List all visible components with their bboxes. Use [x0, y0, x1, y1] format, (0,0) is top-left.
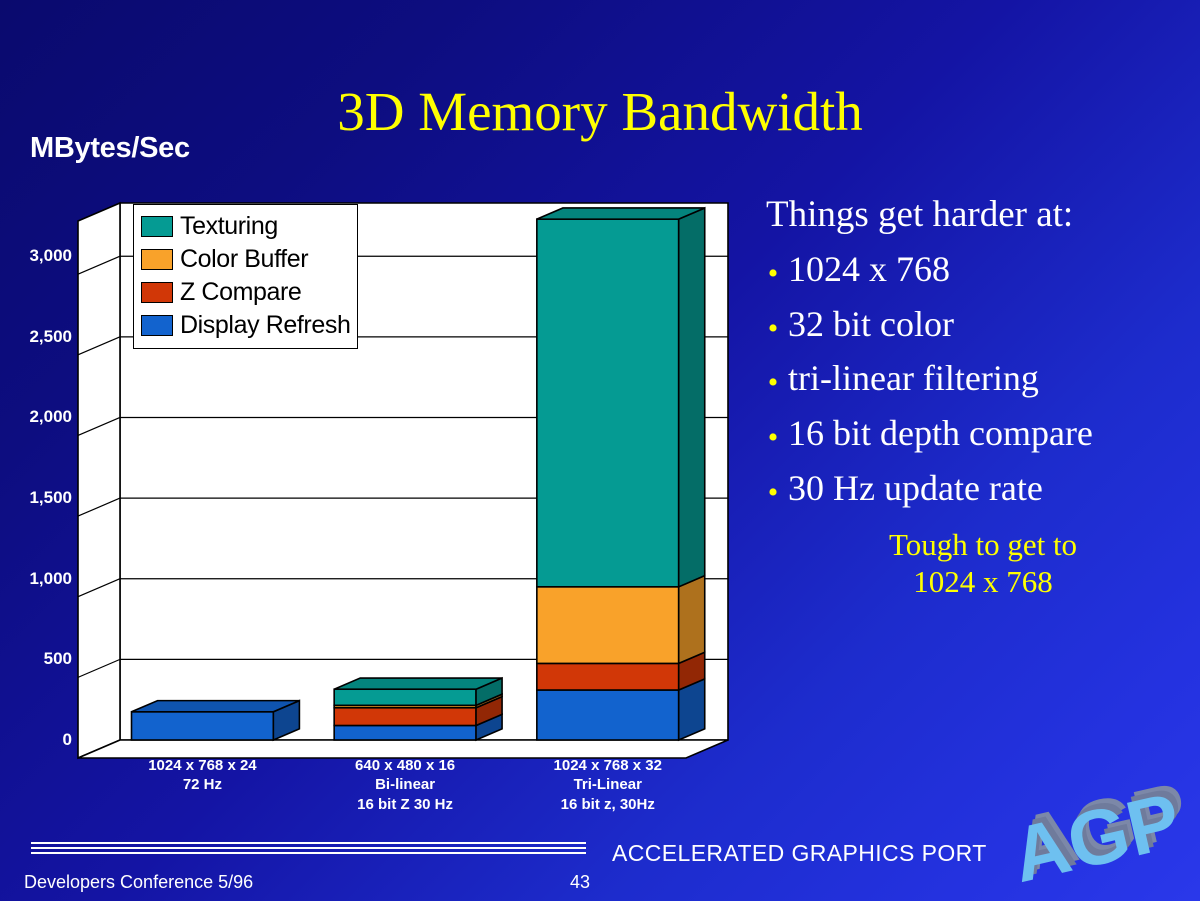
bar-side-face — [679, 208, 705, 587]
bullet-dot-icon: • — [758, 413, 788, 454]
x-axis-category-label: 3D640 x 480 x 16Bi-linear16 bit Z 30 Hz — [304, 737, 507, 814]
bullet-text: tri-linear filtering — [788, 358, 1039, 399]
x-axis-category-line: 3D — [304, 737, 507, 756]
bullet-dot-icon: • — [758, 358, 788, 399]
bar-top-face — [537, 208, 705, 219]
closing-line-1: Tough to get to — [772, 526, 1194, 563]
bullet-dot-icon: • — [758, 468, 788, 509]
footer-rule — [31, 842, 586, 857]
y-tick-label: 500 — [0, 649, 72, 669]
bar-top-face — [334, 678, 502, 689]
x-axis-category-line: 16 bit Z 30 Hz — [304, 795, 507, 814]
x-axis-category-line: 3D — [506, 737, 709, 756]
legend-item: Z Compare — [141, 276, 350, 309]
closing-line-2: 1024 x 768 — [772, 563, 1194, 600]
x-axis-category-line: Bi-linear — [304, 775, 507, 794]
chart-legend: TexturingColor BufferZ CompareDisplay Re… — [133, 204, 358, 349]
bullet-text: 1024 x 768 — [788, 249, 950, 290]
bar-segment-texturing — [334, 689, 476, 705]
legend-swatch-icon — [141, 315, 173, 336]
bullet-list: •1024 x 768•32 bit color•tri-linear filt… — [758, 249, 1194, 508]
agp-logo: AGP AGP AGP — [1000, 778, 1196, 893]
bar-segment-color-buffer — [537, 587, 679, 664]
y-tick-label: 1,000 — [0, 569, 72, 589]
bullet-item: •32 bit color — [758, 304, 1194, 345]
bar-segment-z-compare — [334, 708, 476, 726]
bullet-item: •1024 x 768 — [758, 249, 1194, 290]
y-tick-label: 0 — [0, 730, 72, 750]
x-axis-category-line: 1024 x 768 x 24 — [101, 756, 304, 775]
legend-label: Display Refresh — [180, 313, 350, 338]
bullet-text: 16 bit depth compare — [788, 413, 1093, 454]
bar-segment-z-compare — [537, 663, 679, 690]
y-tick-label: 3,000 — [0, 246, 72, 266]
legend-item: Texturing — [141, 210, 350, 243]
bullet-dot-icon: • — [758, 249, 788, 290]
bar-top-face — [132, 701, 300, 712]
bullet-item: •tri-linear filtering — [758, 358, 1194, 399]
bullet-dot-icon: • — [758, 304, 788, 345]
bar-column-2 — [334, 678, 502, 740]
bullet-item: •30 Hz update rate — [758, 468, 1194, 509]
bar-segment-display-refresh — [537, 690, 679, 740]
bar-segment-texturing — [537, 219, 679, 587]
panel-heading: Things get harder at: — [758, 196, 1194, 235]
legend-swatch-icon — [141, 249, 173, 270]
x-axis-category-line: 1024 x 768 x 32 — [506, 756, 709, 775]
bullet-text: 30 Hz update rate — [788, 468, 1043, 509]
x-axis-category-line: 2D — [101, 737, 304, 756]
slide-title: 3D Memory Bandwidth — [250, 84, 950, 139]
agp-logo-text: AGP — [1004, 778, 1188, 893]
y-axis-title: MBytes/Sec — [30, 132, 190, 165]
legend-item: Color Buffer — [141, 243, 350, 276]
legend-swatch-icon — [141, 216, 173, 237]
bar-side-face — [679, 576, 705, 664]
x-axis-category-label: 2D1024 x 768 x 2472 Hz — [101, 737, 304, 795]
y-tick-label: 2,000 — [0, 407, 72, 427]
footer-page-number: 43 — [0, 872, 1160, 893]
bar-column-1 — [132, 701, 300, 740]
right-text-panel: Things get harder at: •1024 x 768•32 bit… — [758, 196, 1194, 601]
x-axis-category-label: 3D1024 x 768 x 32Tri-Linear16 bit z, 30H… — [506, 737, 709, 814]
legend-label: Color Buffer — [180, 247, 308, 272]
legend-swatch-icon — [141, 282, 173, 303]
y-axis-labels: 05001,0001,5002,0002,5003,000 — [0, 185, 72, 745]
x-axis-category-line: 640 x 480 x 16 — [304, 756, 507, 775]
bar-column-3 — [537, 208, 705, 740]
brand-text: ACCELERATED GRAPHICS PORT — [612, 840, 987, 867]
slide-canvas: 3D Memory Bandwidth MBytes/Sec 05001,000… — [0, 0, 1200, 901]
bar-segment-display-refresh — [132, 712, 274, 740]
legend-label: Texturing — [180, 214, 278, 239]
y-tick-label: 1,500 — [0, 488, 72, 508]
legend-item: Display Refresh — [141, 309, 350, 342]
x-axis-category-line: 16 bit z, 30Hz — [506, 795, 709, 814]
closing-note: Tough to get to 1024 x 768 — [758, 526, 1194, 600]
bullet-text: 32 bit color — [788, 304, 954, 345]
legend-label: Z Compare — [180, 280, 301, 305]
bullet-item: •16 bit depth compare — [758, 413, 1194, 454]
x-axis-category-line: 72 Hz — [101, 775, 304, 794]
y-tick-label: 2,500 — [0, 327, 72, 347]
x-axis-category-line: Tri-Linear — [506, 775, 709, 794]
